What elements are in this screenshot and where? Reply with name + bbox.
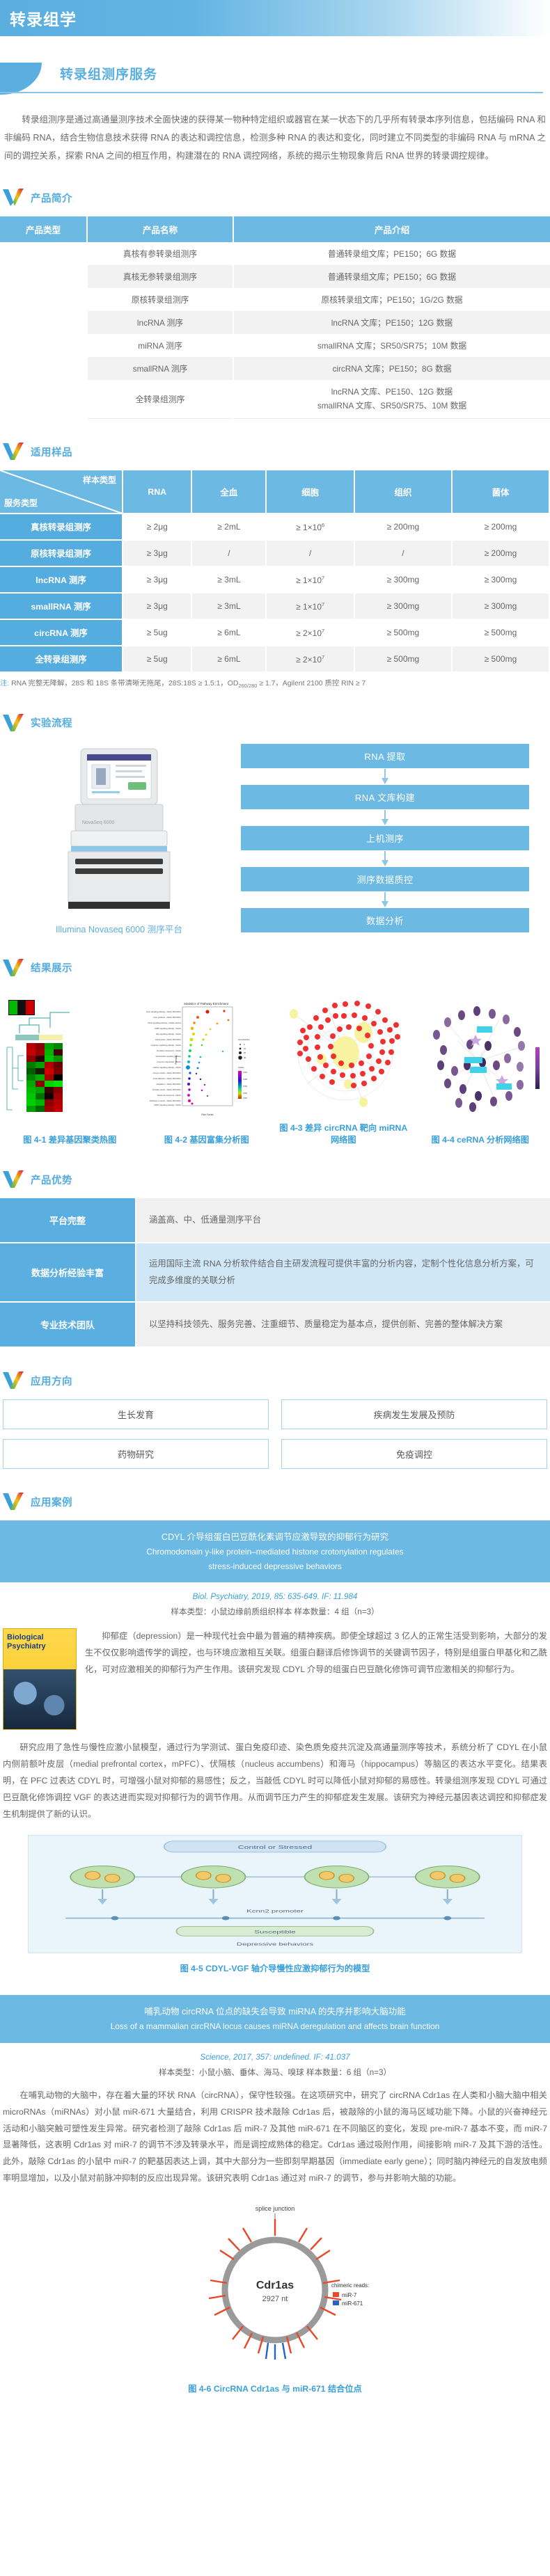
product-desc: 普通转录组文库；PE150；6G 数据	[233, 265, 550, 288]
advantage-desc: 以坚持科技领先、服务完善、注重细节、质量稳定为基本点，提供创新、完善的整体解决方…	[136, 1302, 550, 1347]
workflow-arrow-icon	[241, 809, 529, 826]
applications-grid: 生长发育 疾病发生发展及预防 药物研究 免疫调控	[0, 1399, 550, 1469]
svg-text:Calcium signaling pathway - KE: Calcium signaling pathway - KEGG	[153, 1066, 182, 1069]
advantage-title: 专业技术团队	[0, 1302, 136, 1347]
section-header-cases: 应用案例	[3, 1493, 550, 1511]
sample-requirement-cell: ≥ 1×107	[266, 593, 354, 619]
product-desc: 原核转录组文库；PE150；1G/2G 数据	[233, 288, 550, 311]
product-name: smallRNA 测序	[87, 357, 233, 380]
corner-label-column: 样本类型	[83, 474, 116, 486]
svg-text:40: 40	[244, 1056, 246, 1059]
table-row: circRNA 测序≥ 5ug≥ 6mL≥ 2×107≥ 500mg≥ 500m…	[0, 619, 549, 646]
svg-text:Depressive behaviors: Depressive behaviors	[237, 1942, 314, 1947]
sample-table-corner-cell: 样本类型 服务类型	[0, 470, 123, 514]
journal-cover-title: Biological Psychiatry	[7, 1633, 72, 1650]
svg-text:Circadian entrainment - KEGG: Circadian entrainment - KEGG	[157, 1049, 181, 1052]
table-row: 全转录组测序≥ 5ug≥ 6mL≥ 2×107≥ 500mg≥ 500mg	[0, 646, 549, 672]
product-category-cell: RNA 测序	[0, 242, 87, 418]
result-figure-circrna-network: 图 4-3 差异 circRNA 靶向 miRNA 网络图	[276, 987, 411, 1147]
workflow-step: RNA 提取	[241, 744, 529, 768]
svg-text:Endocytosis - KEGG PATHWAY: Endocytosis - KEGG PATHWAY	[156, 1038, 182, 1041]
sample-requirement-cell: ≥ 1×106	[266, 514, 354, 540]
case1-journal: Biol. Psychiatry, 2019, 85: 635-649. IF:…	[0, 1592, 550, 1601]
sample-service-type: circRNA 测序	[0, 619, 123, 646]
case1-title-en-line2: stress-induced depressive behaviors	[11, 1559, 539, 1574]
sample-requirement-cell: ≥ 6mL	[191, 619, 266, 646]
svg-text:Statistics of Pathway Enrichme: Statistics of Pathway Enrichment	[184, 1002, 229, 1005]
journal-cover-artwork	[3, 1669, 76, 1729]
section-header-applications: 应用方向	[3, 1372, 550, 1390]
sample-service-type: 原核转录组测序	[0, 540, 123, 566]
sample-requirement-cell: ≥ 300mg	[452, 593, 549, 619]
product-desc: lncRNA 文库；PE150；12G 数据	[233, 311, 550, 334]
svg-text:Hepatitis C - KEGG PATHWAY: Hepatitis C - KEGG PATHWAY	[157, 1083, 182, 1086]
svg-text:miR-671: miR-671	[342, 2300, 363, 2307]
product-desc: lncRNA 文库、PE150、12G 数据 smallRNA 文库、SR50/…	[233, 380, 550, 418]
sample-requirement-cell: ≥ 2mL	[191, 514, 266, 540]
svg-text:Fox1 signaling pathway - KEGG: Fox1 signaling pathway - KEGG PATHWAY	[146, 1010, 181, 1013]
product-name: 真核无参转录组测序	[87, 265, 233, 288]
case1-figure-caption: 图 4-5 CDYL-VGF 轴介导慢性应激抑郁行为的模型	[0, 1962, 550, 1974]
svg-text:miR-7: miR-7	[342, 2292, 357, 2298]
svg-text:Vibrio signaling pathway, mult: Vibrio signaling pathway, multiple speci…	[148, 1021, 182, 1024]
sample-service-type: lncRNA 测序	[0, 566, 123, 593]
sample-requirement-cell: ≥ 3μg	[123, 593, 191, 619]
note-text: RNA 完整无降解，28S 和 18S 条带清晰无拖尾，28S:18S ≥ 1.…	[11, 680, 366, 687]
case1-paragraph-2: 研究应用了急性与慢性应激小鼠模型，通过行为学测试、蛋白免疫印迹、染色质免疫共沉淀…	[3, 1740, 547, 1822]
circrna-name: Cdr1as	[256, 2280, 294, 2291]
service-title: 转录组测序服务	[60, 64, 157, 83]
case1-banner: CDYL 介导组蛋白巴豆酰化素调节应激导致的抑郁行为研究 Chromodomai…	[0, 1520, 550, 1582]
sample-requirement-cell: /	[191, 540, 266, 566]
v-logo-icon	[3, 443, 24, 461]
case1-sample-info: 样本类型：小鼠边缘前质组织样本 样本数量：4 组（n=3）	[0, 1606, 550, 1617]
sample-requirement-cell: ≥ 500mg	[354, 646, 452, 672]
sample-requirement-cell: ≥ 200mg	[452, 540, 549, 566]
section-header-workflow: 实验流程	[3, 714, 550, 732]
page-title: 转录组学	[10, 6, 77, 30]
sample-table-body: 真核转录组测序≥ 2μg≥ 2mL≥ 1×106≥ 200mg≥ 200mg原核…	[0, 514, 549, 672]
section-title: 结果展示	[31, 960, 72, 975]
sample-table: 样本类型 服务类型 RNA 全血 细胞 组织 菌体 真核转录组测序≥ 2μg≥ …	[0, 470, 550, 673]
corner-label-row: 服务类型	[4, 497, 38, 509]
table-row: 专业技术团队 以坚持科技领先、服务完善、注重细节、质量稳定为基本点，提供创新、完…	[0, 1302, 550, 1347]
sample-requirement-cell: ≥ 500mg	[452, 646, 549, 672]
table-row: 数据分析经验丰富 运用国际主流 RNA 分析软件结合自主研发流程可提供丰富的分析…	[0, 1243, 550, 1302]
sample-col-tissue: 组织	[354, 470, 452, 514]
heatmap-image	[6, 999, 134, 1124]
svg-text:5: 5	[244, 1043, 245, 1046]
application-item-immune[interactable]: 免疫调控	[281, 1439, 547, 1469]
result-figure-cerna-network: 图 4-4 ceRNA 分析网络图	[414, 999, 548, 1147]
service-header: 转录组测序服务	[0, 54, 550, 95]
product-desc: smallRNA 文库；SR50/SR75；10M 数据	[233, 334, 550, 357]
mir671-ticks	[266, 2343, 285, 2360]
chimeric-reads-legend: chimeric reads: miR-7 miR-671	[331, 2282, 369, 2307]
application-item-disease[interactable]: 疾病发生发展及预防	[281, 1399, 547, 1429]
enrichment-scatter-image: Statistics of Pathway Enrichment Fox1 si…	[142, 999, 271, 1124]
workflow-area: NovaSeq 6000 Illumina Novaseq 6000 测序平台 …	[0, 742, 550, 935]
section-header-advantages: 产品优势	[3, 1170, 550, 1188]
svg-text:20: 20	[244, 1051, 246, 1054]
sample-col-blood: 全血	[191, 470, 266, 514]
sample-col-bacteria: 菌体	[452, 470, 549, 514]
section-title: 产品简介	[31, 191, 72, 205]
results-figures-row: 图 4-1 差异基因聚类热图 Statistics of Pathway Enr…	[0, 987, 550, 1147]
sequencer-image: NovaSeq 6000	[32, 742, 206, 916]
advantage-desc: 涵盖高、中、低通量测序平台	[136, 1198, 550, 1243]
sample-service-type: 真核转录组测序	[0, 514, 123, 540]
svg-text:Rich Factor: Rich Factor	[202, 1113, 214, 1116]
svg-text:Pathways in cancer - KEGG PATH: Pathways in cancer - KEGG PATHWAY	[150, 1099, 181, 1102]
section-title: 适用样品	[31, 445, 72, 459]
case1-meta: Biol. Psychiatry, 2019, 85: 635-649. IF:…	[0, 1592, 550, 1617]
circrna-network-image	[279, 987, 408, 1112]
svg-text:0.004: 0.004	[243, 1092, 248, 1095]
sample-service-type: 全转录组测序	[0, 646, 123, 672]
result-figure-heatmap: 图 4-1 差异基因聚类热图	[3, 999, 137, 1147]
header-divider	[0, 92, 543, 93]
sample-requirement-cell: ≥ 3μg	[123, 566, 191, 593]
sample-requirement-cell: ≥ 300mg	[452, 566, 549, 593]
sample-requirement-cell: ≥ 2×107	[266, 619, 354, 646]
workflow-arrow-icon	[241, 850, 529, 867]
sample-requirement-cell: ≥ 5ug	[123, 646, 191, 672]
svg-text:chimeric reads:: chimeric reads:	[331, 2282, 369, 2289]
product-table-th-desc: 产品介绍	[233, 216, 550, 242]
svg-text:Axon guidance - KEGG PATHWAY: Axon guidance - KEGG PATHWAY	[153, 1016, 181, 1019]
workflow-arrow-icon	[241, 891, 529, 908]
v-logo-icon	[3, 1493, 24, 1511]
sample-requirement-cell: ≥ 200mg	[452, 514, 549, 540]
section-title: 应用方向	[31, 1374, 72, 1388]
workflow-step: 测序数据质控	[241, 867, 529, 891]
product-desc-line2: smallRNA 文库、SR50/SR75、10M 数据	[317, 401, 466, 411]
case2-figure-caption: 图 4-6 CircRNA Cdr1as 与 miR-671 结合位点	[0, 2382, 550, 2394]
case2-paragraph: 在哺乳动物的大脑中，存在着大量的环状 RNA（circRNA），保守性较强。在这…	[3, 2088, 547, 2187]
result-figure-enrichment: Statistics of Pathway Enrichment Fox1 si…	[140, 999, 274, 1147]
svg-text:GeneNumber: GeneNumber	[238, 1038, 250, 1041]
advantage-desc: 运用国际主流 RNA 分析软件结合自主研发流程可提供丰富的分析内容，定制个性化信…	[136, 1243, 550, 1302]
svg-text:Renal cell carcinoma - KEGG: Renal cell carcinoma - KEGG	[157, 1094, 181, 1097]
case2-title-cn: 哺乳动物 circRNA 位点的缺失会导致 miRNA 的失序并影响大脑功能	[11, 2004, 539, 2019]
sample-service-type: smallRNA 测序	[0, 593, 123, 619]
svg-text:Ras signaling pathway - KEGG: Ras signaling pathway - KEGG	[156, 1033, 181, 1035]
case2-figure: splice junction	[160, 2200, 390, 2374]
splice-junction-label: splice junction	[256, 2205, 295, 2212]
sample-requirement-cell: ≥ 500mg	[452, 619, 549, 646]
section-header-product-intro: 产品简介	[3, 189, 550, 207]
section-header-samples: 适用样品	[3, 443, 550, 461]
svg-text:Prostate cancer - KEGG PATHWAY: Prostate cancer - KEGG PATHWAY	[152, 1088, 181, 1091]
svg-text:MAPK signaling pathway - KEGG: MAPK signaling pathway - KEGG	[155, 1104, 182, 1106]
svg-text:Susceptible: Susceptible	[254, 1930, 295, 1934]
journal-cover-image: Biological Psychiatry	[3, 1628, 77, 1730]
application-item-growth[interactable]: 生长发育	[3, 1399, 269, 1429]
case2-meta: Science, 2017, 357: undefined. IF: 41.03…	[0, 2053, 550, 2078]
cdyl-vgf-model-diagram: Control or Stressed Kcnn2 promoter Susce…	[29, 1836, 521, 1953]
sample-requirement-cell: ≥ 3mL	[191, 566, 266, 593]
product-desc: 普通转录组文库；PE150；6G 数据	[233, 242, 550, 265]
sample-requirement-cell: /	[354, 540, 452, 566]
case1-paragraph-1: 抑郁症（depression）是一种现代社会中最为普遍的精神疾病。即使全球超过 …	[85, 1628, 547, 1730]
sample-requirement-cell: ≥ 300mg	[354, 593, 452, 619]
section-title: 产品优势	[31, 1172, 72, 1187]
product-name: 真核有参转录组测序	[87, 242, 233, 265]
svg-text:cAMP signaling pathway - KEGG: cAMP signaling pathway - KEGG	[155, 1027, 181, 1030]
sample-requirement-cell: ≥ 2μg	[123, 514, 191, 540]
svg-text:0.008: 0.008	[243, 1079, 248, 1081]
sample-table-header-row: 样本类型 服务类型 RNA 全血 细胞 组织 菌体	[0, 470, 549, 514]
figure-caption: 图 4-3 差异 circRNA 靶向 miRNA 网络图	[276, 1122, 411, 1147]
product-desc-line1: lncRNA 文库、PE150、12G 数据	[331, 387, 453, 397]
svg-text:0.010: 0.010	[243, 1072, 248, 1074]
product-name: lncRNA 测序	[87, 311, 233, 334]
case2-journal: Science, 2017, 357: undefined. IF: 41.03…	[0, 2053, 550, 2062]
swoosh-decoration	[0, 63, 42, 95]
advantage-title: 平台完整	[0, 1198, 136, 1243]
case1-figure: Control or Stressed Kcnn2 promoter Susce…	[28, 1835, 522, 1953]
workflow-arrow-icon	[241, 768, 529, 785]
sequencer-illustration-block: NovaSeq 6000 Illumina Novaseq 6000 测序平台	[4, 742, 234, 935]
product-table-th-type: 产品类型	[0, 216, 87, 242]
advantages-table: 平台完整 涵盖高、中、低通量测序平台 数据分析经验丰富 运用国际主流 RNA 分…	[0, 1198, 550, 1348]
sample-requirement-cell: ≥ 3mL	[191, 593, 266, 619]
product-name: 全转录组测序	[87, 380, 233, 418]
table-row: 原核转录组测序≥ 3μg///≥ 200mg	[0, 540, 549, 566]
circrna-length: 2927 nt	[262, 2295, 288, 2303]
workflow-step: 数据分析	[241, 908, 529, 932]
sample-requirement-cell: ≥ 3μg	[123, 540, 191, 566]
case1-body: Biological Psychiatry 抑郁症（depression）是一种…	[0, 1628, 550, 1730]
svg-text:Longevity regulating pathway -: Longevity regulating pathway - KEGG	[151, 1044, 181, 1047]
case1-title-cn: CDYL 介导组蛋白巴豆酰化素调节应激导致的抑郁行为研究	[11, 1529, 539, 1545]
sample-requirement-cell: ≥ 5ug	[123, 619, 191, 646]
table-row: smallRNA 测序≥ 3μg≥ 3mL≥ 1×107≥ 300mg≥ 300…	[0, 593, 549, 619]
product-name: miRNA 测序	[87, 334, 233, 357]
svg-text:Focal adhesion - KEGG PATHWAY: Focal adhesion - KEGG PATHWAY	[153, 1077, 182, 1080]
svg-text:Pathway: Pathway	[175, 1056, 178, 1065]
sample-col-cell: 细胞	[266, 470, 354, 514]
case1-title-en-line1: Chromodomain y-like protein–mediated his…	[11, 1545, 539, 1559]
cerna-network-image	[416, 999, 544, 1124]
product-table: 产品类型 产品名称 产品介绍 RNA 测序 真核有参转录组测序 普通转录组文库；…	[0, 216, 550, 419]
workflow-step: RNA 文库构建	[241, 785, 529, 809]
svg-text:NovaSeq 6000: NovaSeq 6000	[82, 820, 114, 825]
v-logo-icon	[3, 189, 24, 207]
table-row: 真核转录组测序≥ 2μg≥ 2mL≥ 1×106≥ 200mg≥ 200mg	[0, 514, 549, 540]
advantage-title: 数据分析经验丰富	[0, 1243, 136, 1302]
sample-requirement-cell: ≥ 2×107	[266, 646, 354, 672]
product-name: 原核转录组测序	[87, 288, 233, 311]
sample-table-note: 注: RNA 完整无降解，28S 和 18S 条带清晰无拖尾，28S:18S ≥…	[0, 678, 550, 690]
workflow-step: 上机测序	[241, 826, 529, 850]
heatmap-cells	[26, 1043, 63, 1112]
sample-requirement-cell: ≥ 6mL	[191, 646, 266, 672]
sample-requirement-cell: ≥ 500mg	[354, 619, 452, 646]
intro-paragraph: 转录组测序是通过高通量测序技术全面快速的获得某一物种特定组织或器官在某一状态下的…	[4, 111, 546, 165]
section-header-results: 结果展示	[3, 959, 550, 977]
application-item-drug[interactable]: 药物研究	[3, 1439, 269, 1469]
page-banner: 转录组学	[0, 0, 550, 36]
sample-requirement-cell: /	[266, 540, 354, 566]
v-logo-icon	[3, 959, 24, 977]
case2-sample-info: 样本类型：小鼠小脑、垂体、海马、嗅球 样本数量：6 组（n=3）	[0, 2067, 550, 2078]
svg-text:Oocyte meiosis - KEGG PATHWAY: Oocyte meiosis - KEGG PATHWAY	[153, 1072, 182, 1074]
section-title: 应用案例	[31, 1495, 72, 1509]
figure-caption: 图 4-4 ceRNA 分析网络图	[414, 1134, 548, 1147]
table-row: lncRNA 测序≥ 3μg≥ 3mL≥ 1×107≥ 300mg≥ 300mg	[0, 566, 549, 593]
product-table-header-row: 产品类型 产品名称 产品介绍	[0, 216, 550, 242]
table-row: RNA 测序 真核有参转录组测序 普通转录组文库；PE150；6G 数据	[0, 242, 550, 265]
svg-text:0.002: 0.002	[243, 1097, 248, 1099]
svg-text:0.006: 0.006	[243, 1086, 248, 1088]
section-title: 实验流程	[31, 715, 72, 730]
table-row: 平台完整 涵盖高、中、低通量测序平台	[0, 1198, 550, 1243]
note-label: 注:	[0, 680, 9, 687]
sample-requirement-cell: ≥ 200mg	[354, 514, 452, 540]
sample-requirement-cell: ≥ 1×107	[266, 566, 354, 593]
v-logo-icon	[3, 1170, 24, 1188]
svg-text:Kcnn2 promoter: Kcnn2 promoter	[246, 1909, 304, 1914]
case2-title-en: Loss of a mammalian circRNA locus causes…	[11, 2019, 539, 2034]
product-desc: circRNA 文库；PE150；8G 数据	[233, 357, 550, 380]
svg-text:pValue: pValue	[238, 1066, 244, 1069]
sequencer-caption: Illumina Novaseq 6000 测序平台	[4, 922, 234, 935]
figure-caption: 图 4-1 差异基因聚类热图	[3, 1134, 137, 1147]
case2-banner: 哺乳动物 circRNA 位点的缺失会导致 miRNA 的失序并影响大脑功能 L…	[0, 1995, 550, 2043]
sample-col-rna: RNA	[123, 470, 191, 514]
svg-text:Control or Stressed: Control or Stressed	[238, 1845, 313, 1851]
v-logo-icon	[3, 714, 24, 732]
svg-text:Neurotrophin signaling pathway: Neurotrophin signaling pathway	[156, 1055, 182, 1058]
svg-text:10: 10	[244, 1047, 246, 1050]
v-logo-icon	[3, 1372, 24, 1390]
workflow-steps: RNA 提取 RNA 文库构建 上机测序 测序数据质控 数据分析	[234, 744, 546, 932]
product-table-body: RNA 测序 真核有参转录组测序 普通转录组文库；PE150；6G 数据 真核无…	[0, 242, 550, 418]
cdr1as-circular-plot: splice junction	[160, 2200, 390, 2374]
product-table-th-name: 产品名称	[87, 216, 233, 242]
sample-requirement-cell: ≥ 300mg	[354, 566, 452, 593]
figure-caption: 图 4-2 基因富集分析图	[140, 1134, 274, 1147]
